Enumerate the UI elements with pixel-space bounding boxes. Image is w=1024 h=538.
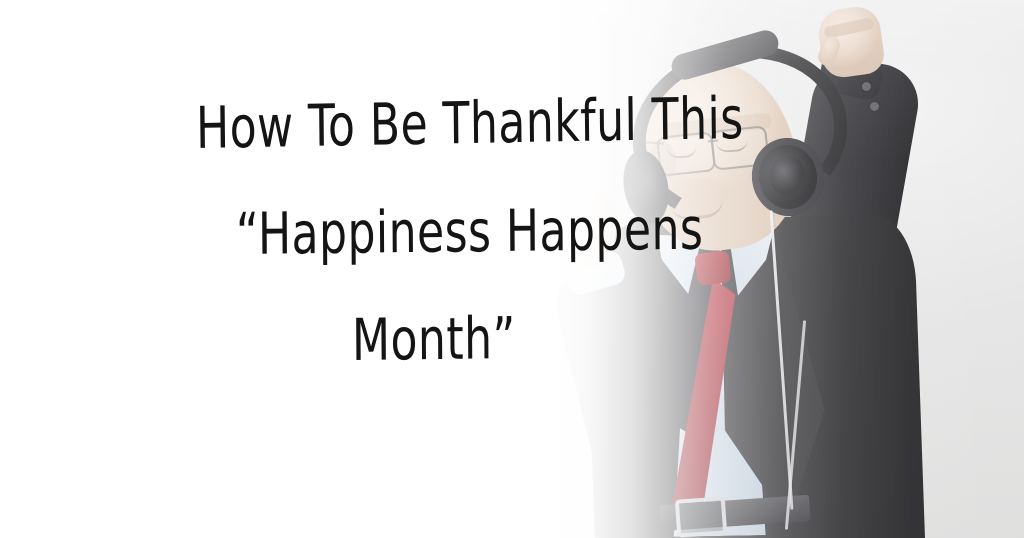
belt-buckle: [675, 496, 728, 537]
jacket-button-lower: [870, 102, 879, 111]
jacket-button-upper: [862, 82, 871, 91]
headline-line-1: How To Be Thankful This: [196, 85, 744, 162]
hero-photo: [464, 0, 1024, 538]
headline-line-2: “Happiness Happens: [236, 196, 704, 269]
banner-image: How To Be Thankful This “Happiness Happe…: [0, 0, 1024, 538]
headline-line-3: Month”: [352, 305, 516, 374]
